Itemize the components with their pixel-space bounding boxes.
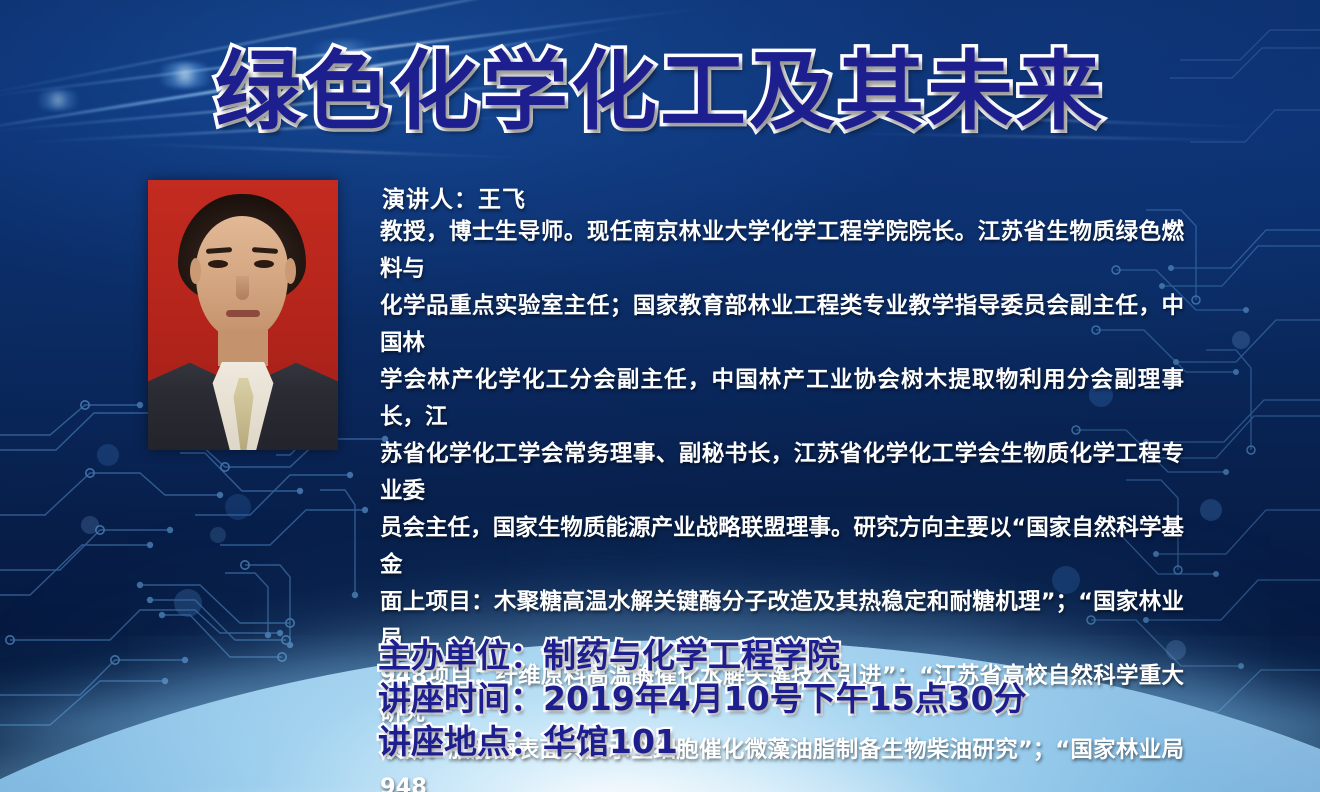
portrait-mouth (226, 310, 260, 317)
event-info: 主办单位：制药与化学工程学院 讲座时间：2019年4月10号下午15点30分 讲… (378, 634, 1027, 763)
speaker-label: 演讲人：王飞 (382, 180, 526, 214)
biography-line: 苏省化学化工学会常务理事、副秘书长，江苏省化学化工学会生物质化学工程专业委 (380, 436, 1184, 510)
biography-line: 学会林产化学化工分会副主任，中国林产工业协会树木提取物利用分会副理事长，江 (380, 362, 1184, 436)
lecture-poster: 绿色化学化工及其未来 演讲人：王飞 教授，博士生导师。现任南京林业大学化学工程学… (0, 0, 1320, 792)
biography-line: 化学品重点实验室主任；国家教育部林业工程类专业教学指导委员会副主任，中国林 (380, 288, 1184, 362)
portrait-neck (218, 330, 268, 366)
event-location: 讲座地点：华馆101 (378, 720, 1027, 763)
portrait-ear (190, 258, 201, 284)
portrait-eye (254, 260, 274, 268)
poster-title: 绿色化学化工及其未来 (0, 44, 1320, 140)
portrait-nose (236, 276, 249, 300)
light-streak (120, 143, 540, 160)
event-organizer: 主办单位：制药与化学工程学院 (378, 634, 1027, 677)
speaker-portrait (148, 180, 338, 450)
portrait-ear (285, 258, 296, 284)
biography-line: 员会主任，国家生物质能源产业战略联盟理事。研究方向主要以“国家自然科学基金 (380, 510, 1184, 584)
event-time: 讲座时间：2019年4月10号下午15点30分 (378, 677, 1027, 720)
biography-line: 教授，博士生导师。现任南京林业大学化学工程学院院长。江苏省生物质绿色燃料与 (380, 214, 1184, 288)
portrait-eye (208, 260, 228, 268)
